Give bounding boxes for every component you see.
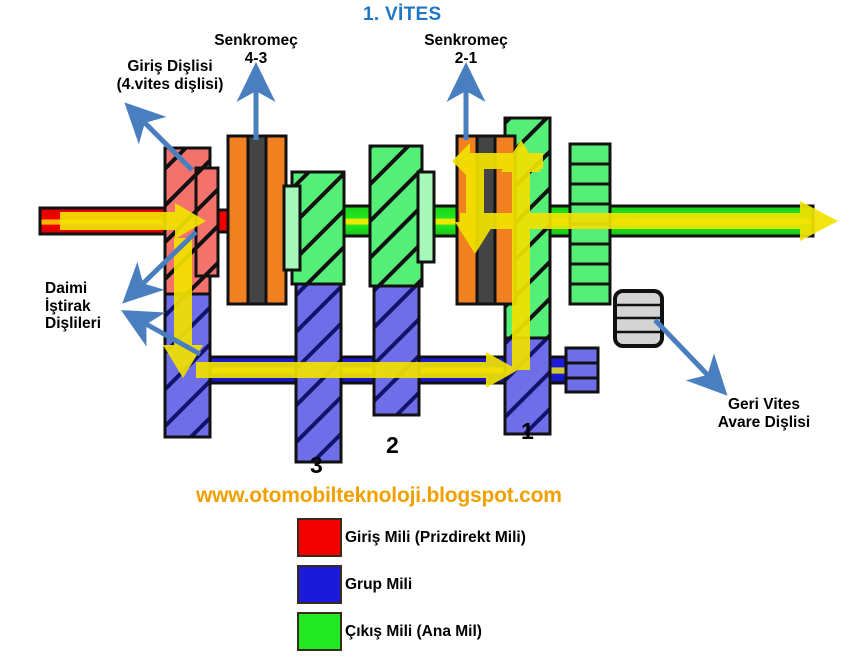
- legend-item: Grup Mili: [297, 565, 412, 604]
- legend-item: Giriş Mili (Prizdirekt Mili): [297, 518, 526, 557]
- legend-swatch-layshaft: [297, 565, 342, 604]
- label-synchro-43: Senkromeç 4-3: [186, 32, 326, 67]
- gear-number-2: 2: [386, 432, 399, 459]
- gear-number-3: 3: [310, 452, 323, 479]
- label-constant-mesh: Daimi İştirak Dişlileri: [45, 280, 129, 333]
- layshaft-reverse-gear: [566, 348, 598, 392]
- watermark: www.otomobilteknoloji.blogspot.com: [196, 484, 562, 508]
- callout-reverse-idler: [655, 320, 722, 390]
- legend-swatch-output-shaft: [297, 612, 342, 651]
- gearbox-diagram: 1. VİTES: [0, 0, 867, 662]
- reverse-idler-gear: [615, 291, 662, 346]
- legend-label: Çıkış Mili (Ana Mil): [345, 623, 482, 641]
- legend-label: Grup Mili: [345, 576, 412, 594]
- output-gear-2nd: [370, 146, 434, 286]
- label-synchro-21: Senkromeç 2-1: [396, 32, 536, 67]
- gear-number-1: 1: [521, 418, 534, 445]
- gearbox-schematic: [0, 0, 867, 662]
- label-reverse-idler: Geri Vites Avare Dişlisi: [684, 396, 844, 431]
- layshaft-gear-2: [374, 283, 419, 415]
- legend-label: Giriş Mili (Prizdirekt Mili): [345, 529, 526, 547]
- legend-swatch-input-shaft: [297, 518, 342, 557]
- legend-item: Çıkış Mili (Ana Mil): [297, 612, 482, 651]
- output-gear-3rd: [284, 172, 344, 284]
- callout-input-gear: [130, 108, 192, 170]
- synchronizer-4-3: [228, 136, 286, 304]
